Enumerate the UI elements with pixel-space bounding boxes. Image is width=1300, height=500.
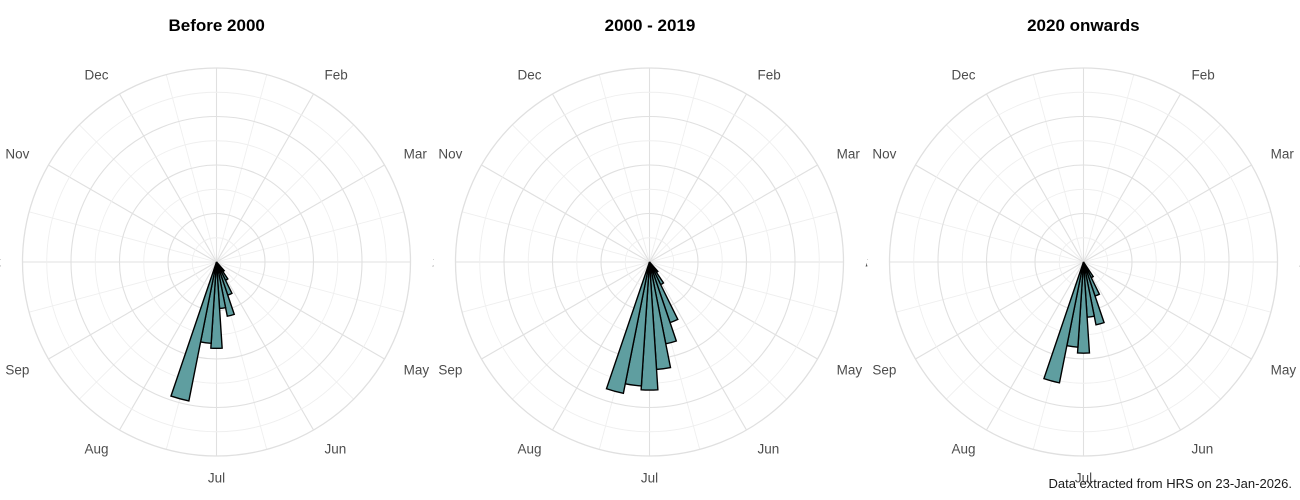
axis-tick-label-dec: Dec bbox=[85, 67, 109, 82]
axis-tick-label-mar: Mar bbox=[837, 147, 861, 162]
axis-tick-label-may: May bbox=[837, 362, 863, 377]
axis-tick-label-nov: Nov bbox=[5, 147, 29, 162]
axis-tick-label-jun: Jun bbox=[1191, 442, 1213, 457]
axis-tick-label-dec: Dec bbox=[951, 67, 975, 82]
axis-tick-label-may: May bbox=[1270, 362, 1296, 377]
axis-tick-label-sep: Sep bbox=[5, 362, 29, 377]
axis-tick-label-mar: Mar bbox=[1270, 147, 1294, 162]
axis-tick-label-oct: Oct bbox=[433, 254, 434, 269]
polar-rose-chart: FebMarAprMayJunJulAugSepOctNovDec bbox=[0, 0, 433, 500]
axis-tick-label-aug: Aug bbox=[84, 442, 108, 457]
axis-tick-label-may: May bbox=[404, 362, 430, 377]
axis-tick-label-nov: Nov bbox=[439, 147, 463, 162]
axis-tick-label-aug: Aug bbox=[518, 442, 542, 457]
axis-tick-label-sep: Sep bbox=[872, 362, 896, 377]
chart-panel-1: Before 2000FebMarAprMayJunJulAugSepOctNo… bbox=[0, 0, 433, 500]
figure-caption: Data extracted from HRS on 23-Jan-2026. bbox=[1048, 476, 1292, 491]
axis-tick-label-oct: Oct bbox=[867, 254, 868, 269]
polar-rose-chart: FebMarAprMayJunJulAugSepOctNovDec bbox=[433, 0, 866, 500]
panel-row: Before 2000FebMarAprMayJunJulAugSepOctNo… bbox=[0, 0, 1300, 500]
polar-rose-chart: FebMarAprMayJunJulAugSepOctNovDec bbox=[867, 0, 1300, 500]
axis-tick-label-nov: Nov bbox=[872, 147, 896, 162]
chart-panel-2: 2000 - 2019FebMarAprMayJunJulAugSepOctNo… bbox=[433, 0, 866, 500]
axis-tick-label-aug: Aug bbox=[951, 442, 975, 457]
axis-tick-label-jul: Jul bbox=[208, 470, 225, 485]
chart-panel-3: 2020 onwardsFebMarAprMayJunJulAugSepOctN… bbox=[867, 0, 1300, 500]
axis-tick-label-feb: Feb bbox=[324, 67, 347, 82]
axis-tick-label-oct: Oct bbox=[0, 254, 1, 269]
axis-tick-label-jun: Jun bbox=[324, 442, 346, 457]
axis-tick-label-jul: Jul bbox=[641, 470, 658, 485]
axis-tick-label-mar: Mar bbox=[404, 147, 428, 162]
axis-tick-label-feb: Feb bbox=[758, 67, 781, 82]
axis-tick-label-dec: Dec bbox=[518, 67, 542, 82]
axis-tick-label-jun: Jun bbox=[758, 442, 780, 457]
axis-tick-label-sep: Sep bbox=[439, 362, 463, 377]
axis-tick-label-feb: Feb bbox=[1191, 67, 1214, 82]
